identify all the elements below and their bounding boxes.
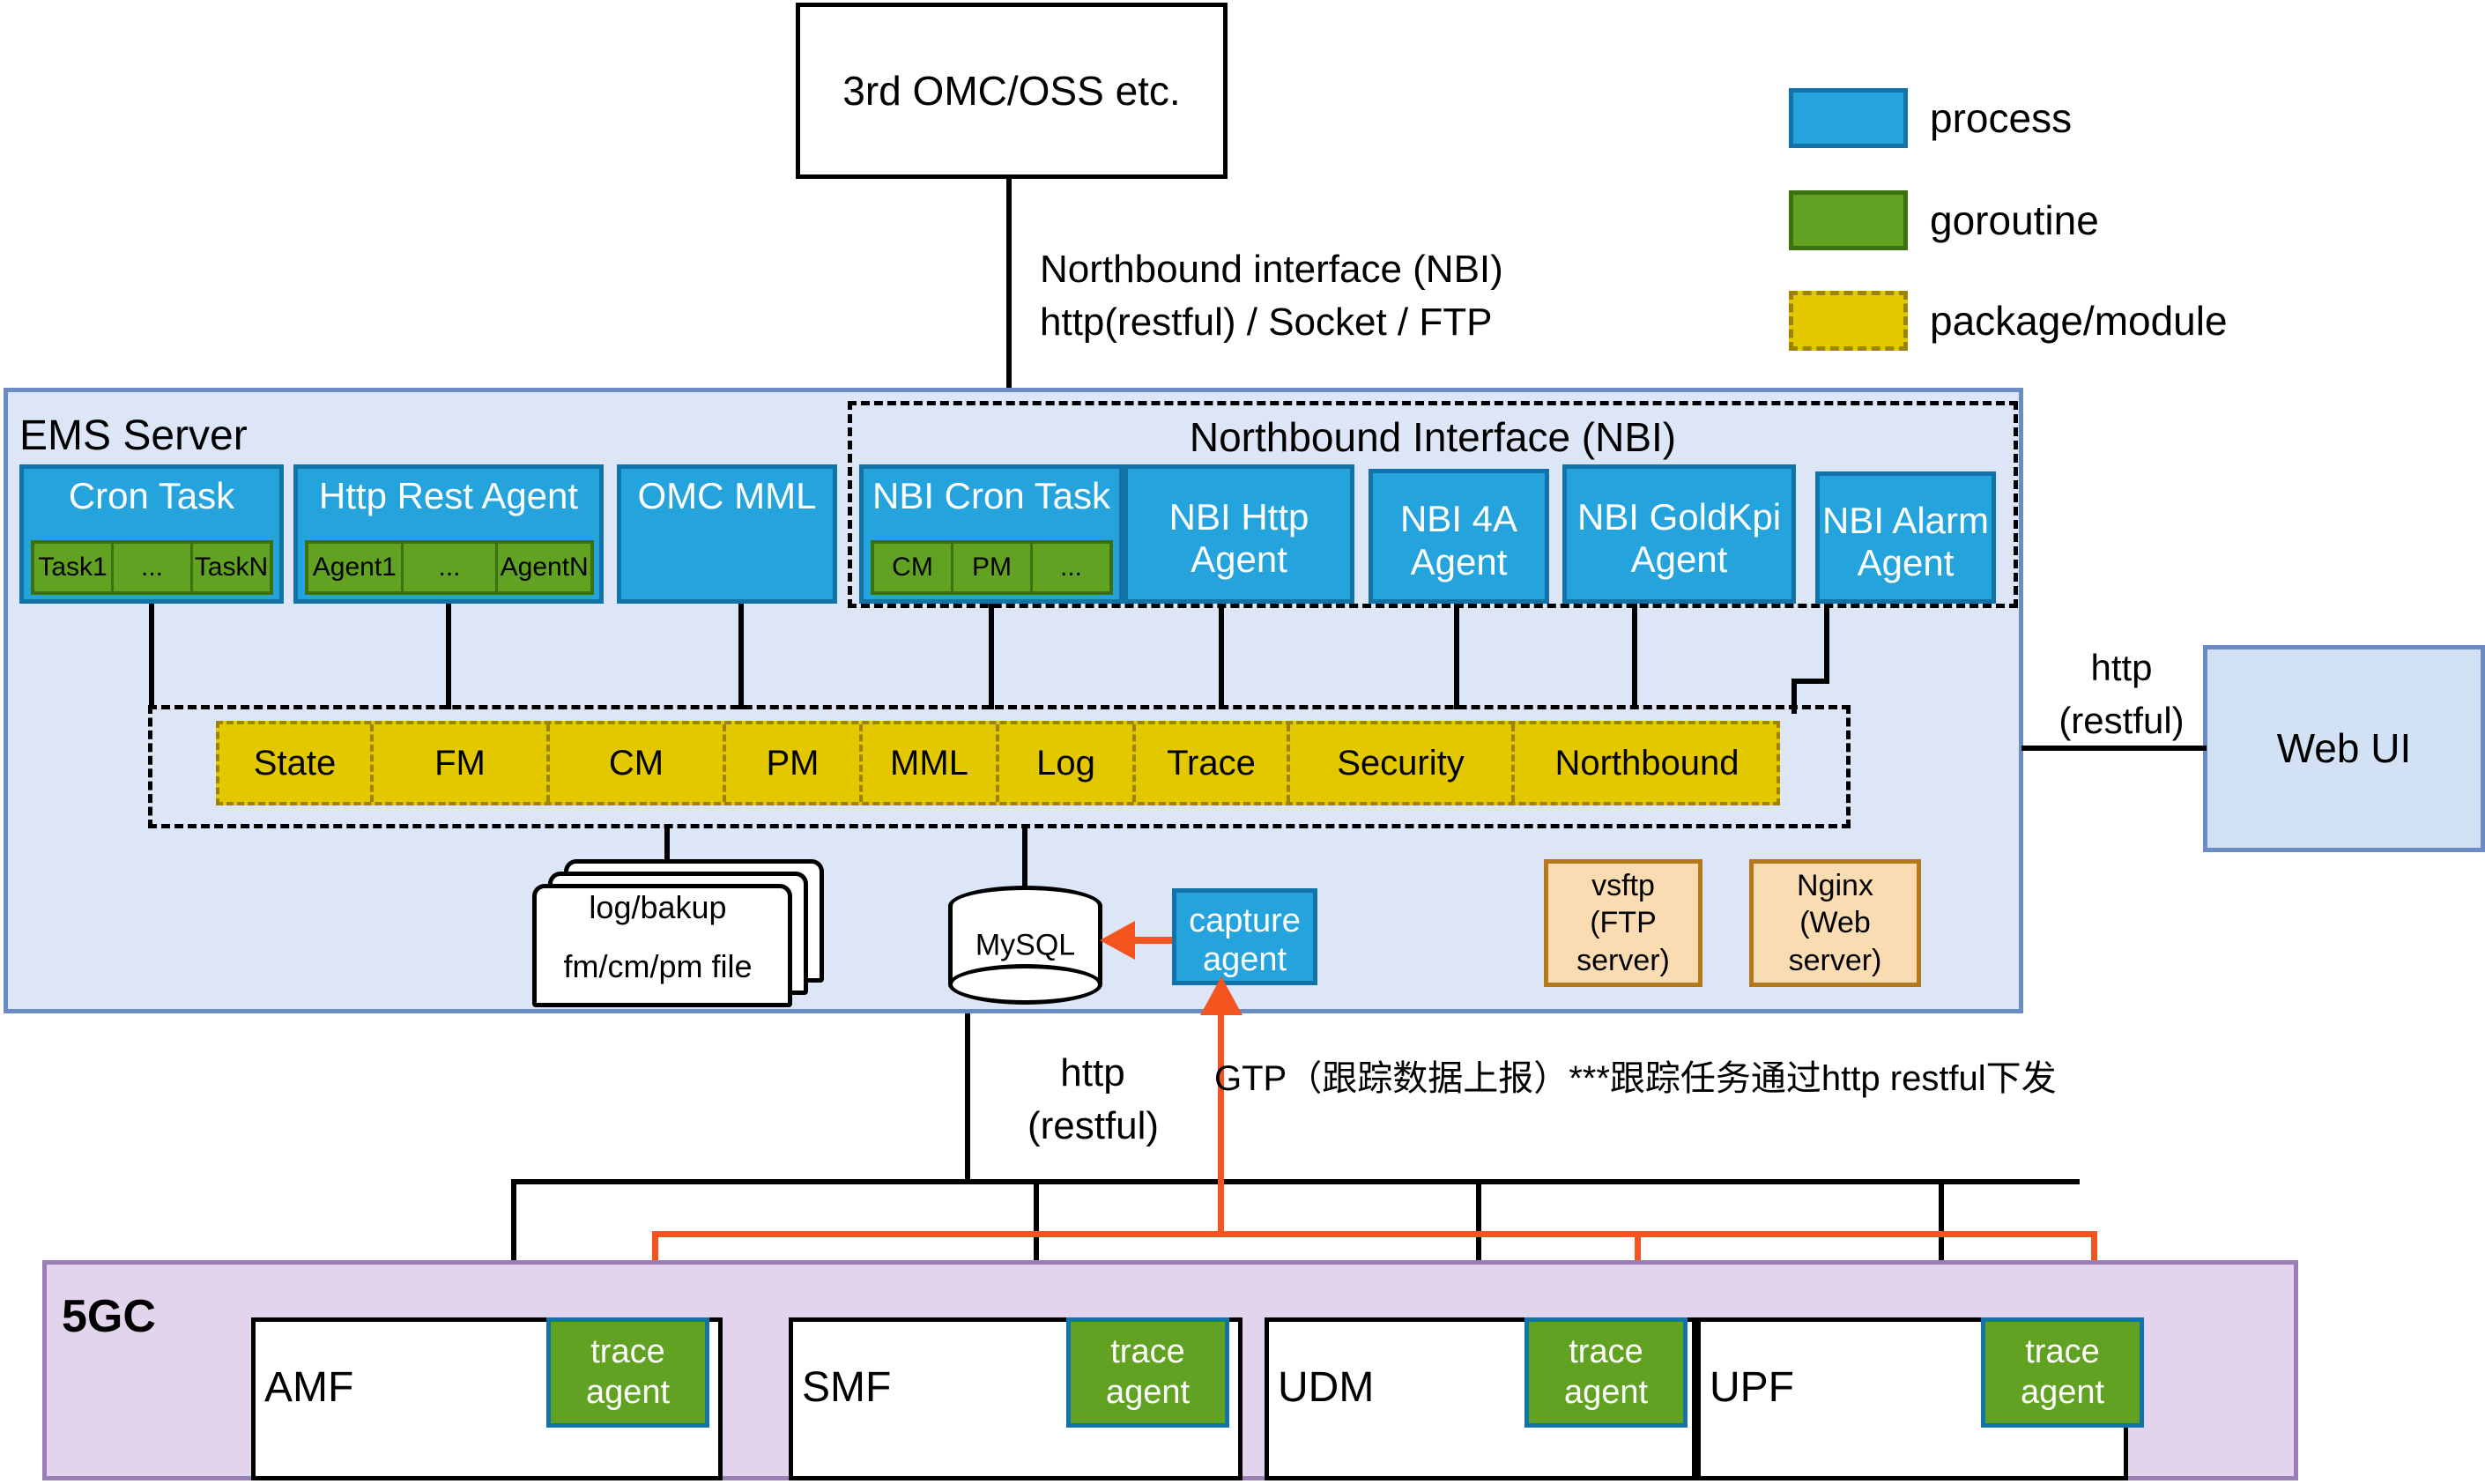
mysql-database: MySQL	[948, 886, 1102, 1005]
server-vsftp-line1: vsftp	[1591, 869, 1655, 902]
goroutine-swatch	[1789, 190, 1908, 250]
process-nbi-http-agent[interactable]: NBI Http Agent	[1124, 464, 1354, 604]
module-log[interactable]: Log	[999, 724, 1136, 802]
legend-label-goroutine: goroutine	[1930, 189, 2388, 252]
process-omc-mml[interactable]: OMC MML	[617, 464, 837, 604]
nbi-link-line1: Northbound interface (NBI)	[1040, 247, 1503, 293]
web-ui-label: Web UI	[2203, 645, 2485, 852]
process-capture-agent[interactable]: capture agent	[1172, 888, 1317, 985]
goroutine-strip-nbi-cron-task: CM PM ...	[871, 540, 1113, 595]
connector-modules-to-database	[1022, 828, 1027, 890]
server-nginx: Nginx (Web server)	[1749, 859, 1921, 987]
goroutine-item: Agent1	[308, 544, 404, 591]
module-trace[interactable]: Trace	[1136, 724, 1290, 802]
goroutine-item: ...	[404, 544, 499, 591]
module-cm[interactable]: CM	[550, 724, 726, 802]
goroutine-item: Task1	[34, 544, 114, 591]
process-nbi-cron-task-label: NBI Cron Task	[864, 469, 1119, 523]
process-nbi-alarm-agent-label: NBI Alarm Agent	[1820, 476, 1992, 608]
process-nbi-alarm-agent[interactable]: NBI Alarm Agent	[1815, 471, 1996, 604]
goroutine-strip-http-rest-agent: Agent1 ... AgentN	[305, 540, 594, 595]
server-vsftp: vsftp (FTP server)	[1544, 859, 1702, 987]
server-nginx-line1: Nginx	[1797, 869, 1873, 902]
module-state[interactable]: State	[219, 724, 374, 802]
network-function-amf-label: AMF	[264, 1362, 441, 1414]
file-store-label-line2: fm/cm/pm file	[532, 945, 783, 989]
connector-cron-task-to-modules	[149, 604, 154, 709]
arrow-trace-to-capture-head	[1198, 976, 1244, 1019]
core-network-title: 5GC	[62, 1287, 220, 1348]
module-northbound[interactable]: Northbound	[1515, 724, 1779, 802]
process-nbi-http-agent-label: NBI Http Agent	[1128, 469, 1350, 608]
goroutine-strip-cron-task: Task1 ... TaskN	[31, 540, 273, 595]
web-ui-link-line1: http	[2036, 643, 2207, 693]
process-nbi-4a-agent-label: NBI 4A Agent	[1373, 473, 1545, 608]
goroutine-item: AgentN	[498, 544, 590, 591]
arrow-capture-to-mysql-head	[1100, 919, 1137, 961]
core-link-line2: (restful)	[985, 1102, 1201, 1151]
file-store-label-line1: log/bakup	[532, 886, 783, 930]
server-vsftp-line2: (FTP server)	[1576, 906, 1670, 977]
network-function-udm-label: UDM	[1278, 1362, 1472, 1414]
mysql-cylinder-bottom	[948, 964, 1102, 1005]
connector-omcoss-to-nbi	[1006, 179, 1012, 404]
process-nbi-goldkpi-agent[interactable]: NBI GoldKpi Agent	[1562, 464, 1796, 604]
network-function-upf-label: UPF	[1710, 1362, 1903, 1414]
connector-nbi-cron-task-to-modules	[989, 604, 994, 709]
module-security[interactable]: Security	[1290, 724, 1515, 802]
trace-bus-horizontal	[652, 1231, 2097, 1237]
mysql-cylinder-seam-mask	[953, 907, 1098, 930]
file-page-wave-mask	[538, 990, 778, 1002]
goroutine-item: ...	[114, 544, 193, 591]
network-function-smf-label: SMF	[802, 1362, 978, 1414]
trace-agent-udm[interactable]: trace agent	[1524, 1317, 1688, 1428]
connector-core-bus-horizontal	[511, 1179, 2080, 1184]
ems-server-title: EMS Server	[19, 405, 389, 467]
connector-nbi-goldkpi-agent-to-modules	[1632, 604, 1637, 709]
goroutine-item: ...	[1033, 544, 1109, 591]
process-capture-agent-label: capture agent	[1176, 893, 1313, 990]
module-bar: State FM CM PM MML Log Trace Security No…	[216, 721, 1780, 805]
connector-nbi-http-agent-to-modules	[1219, 604, 1224, 709]
core-link-line1: http	[991, 1049, 1194, 1098]
connector-nbi-alarm-agent-seg2	[1791, 679, 1829, 684]
module-fm[interactable]: FM	[374, 724, 550, 802]
connector-ems-to-web-ui	[2021, 746, 2207, 751]
process-nbi-goldkpi-agent-label: NBI GoldKpi Agent	[1567, 469, 1791, 608]
process-swatch	[1789, 88, 1908, 148]
legend-label-process: process	[1930, 86, 2388, 150]
module-mml[interactable]: MML	[863, 724, 999, 802]
trace-agent-smf[interactable]: trace agent	[1066, 1317, 1229, 1428]
connector-nbi-4a-agent-to-modules	[1454, 604, 1459, 709]
goroutine-item: PM	[953, 544, 1033, 591]
package-module-swatch	[1789, 291, 1908, 351]
nbi-link-line2: http(restful) / Socket / FTP	[1040, 300, 1492, 345]
legend-label-package-module: package/module	[1930, 289, 2459, 352]
server-nginx-line2: (Web server)	[1789, 906, 1882, 977]
process-nbi-4a-agent[interactable]: NBI 4A Agent	[1369, 469, 1549, 604]
third-party-omc-oss-label: 3rd OMC/OSS etc.	[796, 3, 1228, 179]
trace-bus-riser	[1218, 1013, 1224, 1234]
connector-nbi-alarm-agent-seg1	[1824, 604, 1829, 683]
process-omc-mml-label: OMC MML	[621, 469, 833, 523]
mysql-label: MySQL	[948, 928, 1102, 962]
gtp-note-label: GTP（跟踪数据上报）***跟踪任务通过http restful下发	[1214, 1053, 2096, 1106]
architecture-diagram: process goroutine package/module 3rd OMC…	[0, 0, 2485, 1484]
nbi-group-title: Northbound Interface (NBI)	[848, 407, 2018, 467]
connector-omc-mml-to-modules	[738, 604, 744, 709]
connector-ems-to-core-trunk	[965, 1013, 970, 1181]
process-http-rest-agent-label: Http Rest Agent	[298, 469, 599, 523]
trace-agent-amf[interactable]: trace agent	[546, 1317, 709, 1428]
trace-agent-upf[interactable]: trace agent	[1981, 1317, 2144, 1428]
goroutine-item: CM	[874, 544, 953, 591]
connector-http-rest-agent-to-modules	[446, 604, 451, 709]
process-cron-task-label: Cron Task	[24, 469, 279, 523]
web-ui-link-line2: (restful)	[2027, 696, 2216, 746]
module-pm[interactable]: PM	[726, 724, 863, 802]
goroutine-item: TaskN	[193, 544, 270, 591]
